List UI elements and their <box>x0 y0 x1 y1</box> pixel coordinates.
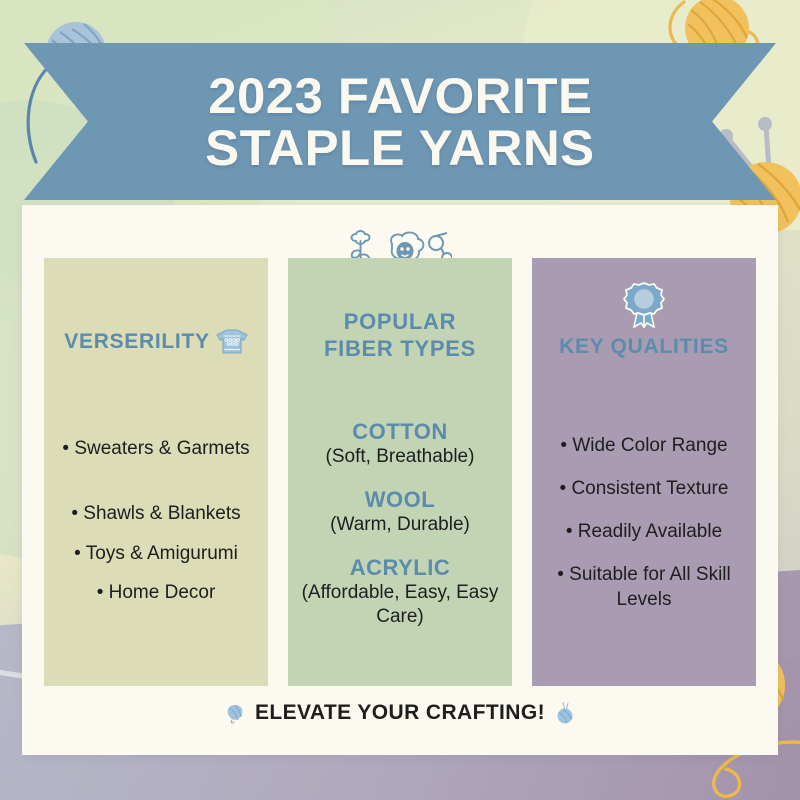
title-line-1: 2023 FAVORITE <box>208 70 592 122</box>
list-item: • Readily Available <box>544 519 744 544</box>
footer: ELEVATE YOUR CRAFTING! <box>22 700 778 726</box>
yarn-ball-icon-left <box>224 701 246 725</box>
sweater-icon <box>216 328 248 355</box>
card-key-qualities-heading-text: KEY QUALITIES <box>559 334 729 360</box>
card-versatility: VERSERILITY <box>44 258 268 686</box>
fiber-desc: (Warm, Durable) <box>300 513 500 537</box>
card-versatility-heading-text: VERSERILITY <box>64 329 209 355</box>
card-fiber-types-list: COTTON (Soft, Breathable) WOOL (Warm, Du… <box>300 419 500 629</box>
card-fiber-types: POPULAR FIBER TYPES COTTON (Soft, Breath… <box>288 258 512 686</box>
list-item: • Shawls & Blankets <box>56 501 256 526</box>
title-line-2: STAPLE YARNS <box>205 122 594 174</box>
list-item: • Toys & Amigurumi <box>56 541 256 566</box>
footer-text: ELEVATE YOUR CRAFTING! <box>255 701 545 725</box>
card-versatility-bullets: • Sweaters & Garmets • Shawls & Blankets… <box>56 436 256 604</box>
fiber-entry: ACRYLIC (Affordable, Easy, Easy Care) <box>300 555 500 629</box>
fiber-desc: (Affordable, Easy, Easy Care) <box>300 581 500 629</box>
list-item: • Home Decor <box>56 580 256 605</box>
fiber-desc: (Soft, Breathable) <box>300 445 500 469</box>
card-key-qualities-bullets: • Wide Color Range • Consistent Texture … <box>544 433 744 612</box>
fiber-name: ACRYLIC <box>300 555 500 581</box>
award-badge-icon <box>623 280 665 328</box>
card-fiber-types-heading-line-1: POPULAR <box>344 309 456 336</box>
card-versatility-heading: VERSERILITY <box>64 328 247 355</box>
list-item: • Wide Color Range <box>544 433 744 458</box>
card-fiber-types-heading: POPULAR FIBER TYPES <box>324 309 476 363</box>
card-fiber-types-heading-line-2: FIBER TYPES <box>324 336 476 363</box>
cards-row: VERSERILITY <box>44 258 756 686</box>
title-banner: 2023 FAVORITE STAPLE YARNS <box>24 43 776 200</box>
list-item: • Suitable for All Skill Levels <box>544 562 744 612</box>
list-item: • Consistent Texture <box>544 476 744 501</box>
sheep-icon <box>391 232 423 260</box>
card-key-qualities-heading: KEY QUALITIES <box>559 334 729 360</box>
fiber-name: COTTON <box>300 419 500 445</box>
yarn-ball-icon-right <box>554 700 576 726</box>
fiber-name: WOOL <box>300 487 500 513</box>
infographic-poster: 2023 FAVORITE STAPLE YARNS <box>0 0 800 800</box>
fiber-entry: COTTON (Soft, Breathable) <box>300 419 500 469</box>
list-item: • Sweaters & Garmets <box>56 436 256 461</box>
card-key-qualities: KEY QUALITIES • Wide Color Range • Consi… <box>532 258 756 686</box>
fiber-entry: WOOL (Warm, Durable) <box>300 487 500 537</box>
